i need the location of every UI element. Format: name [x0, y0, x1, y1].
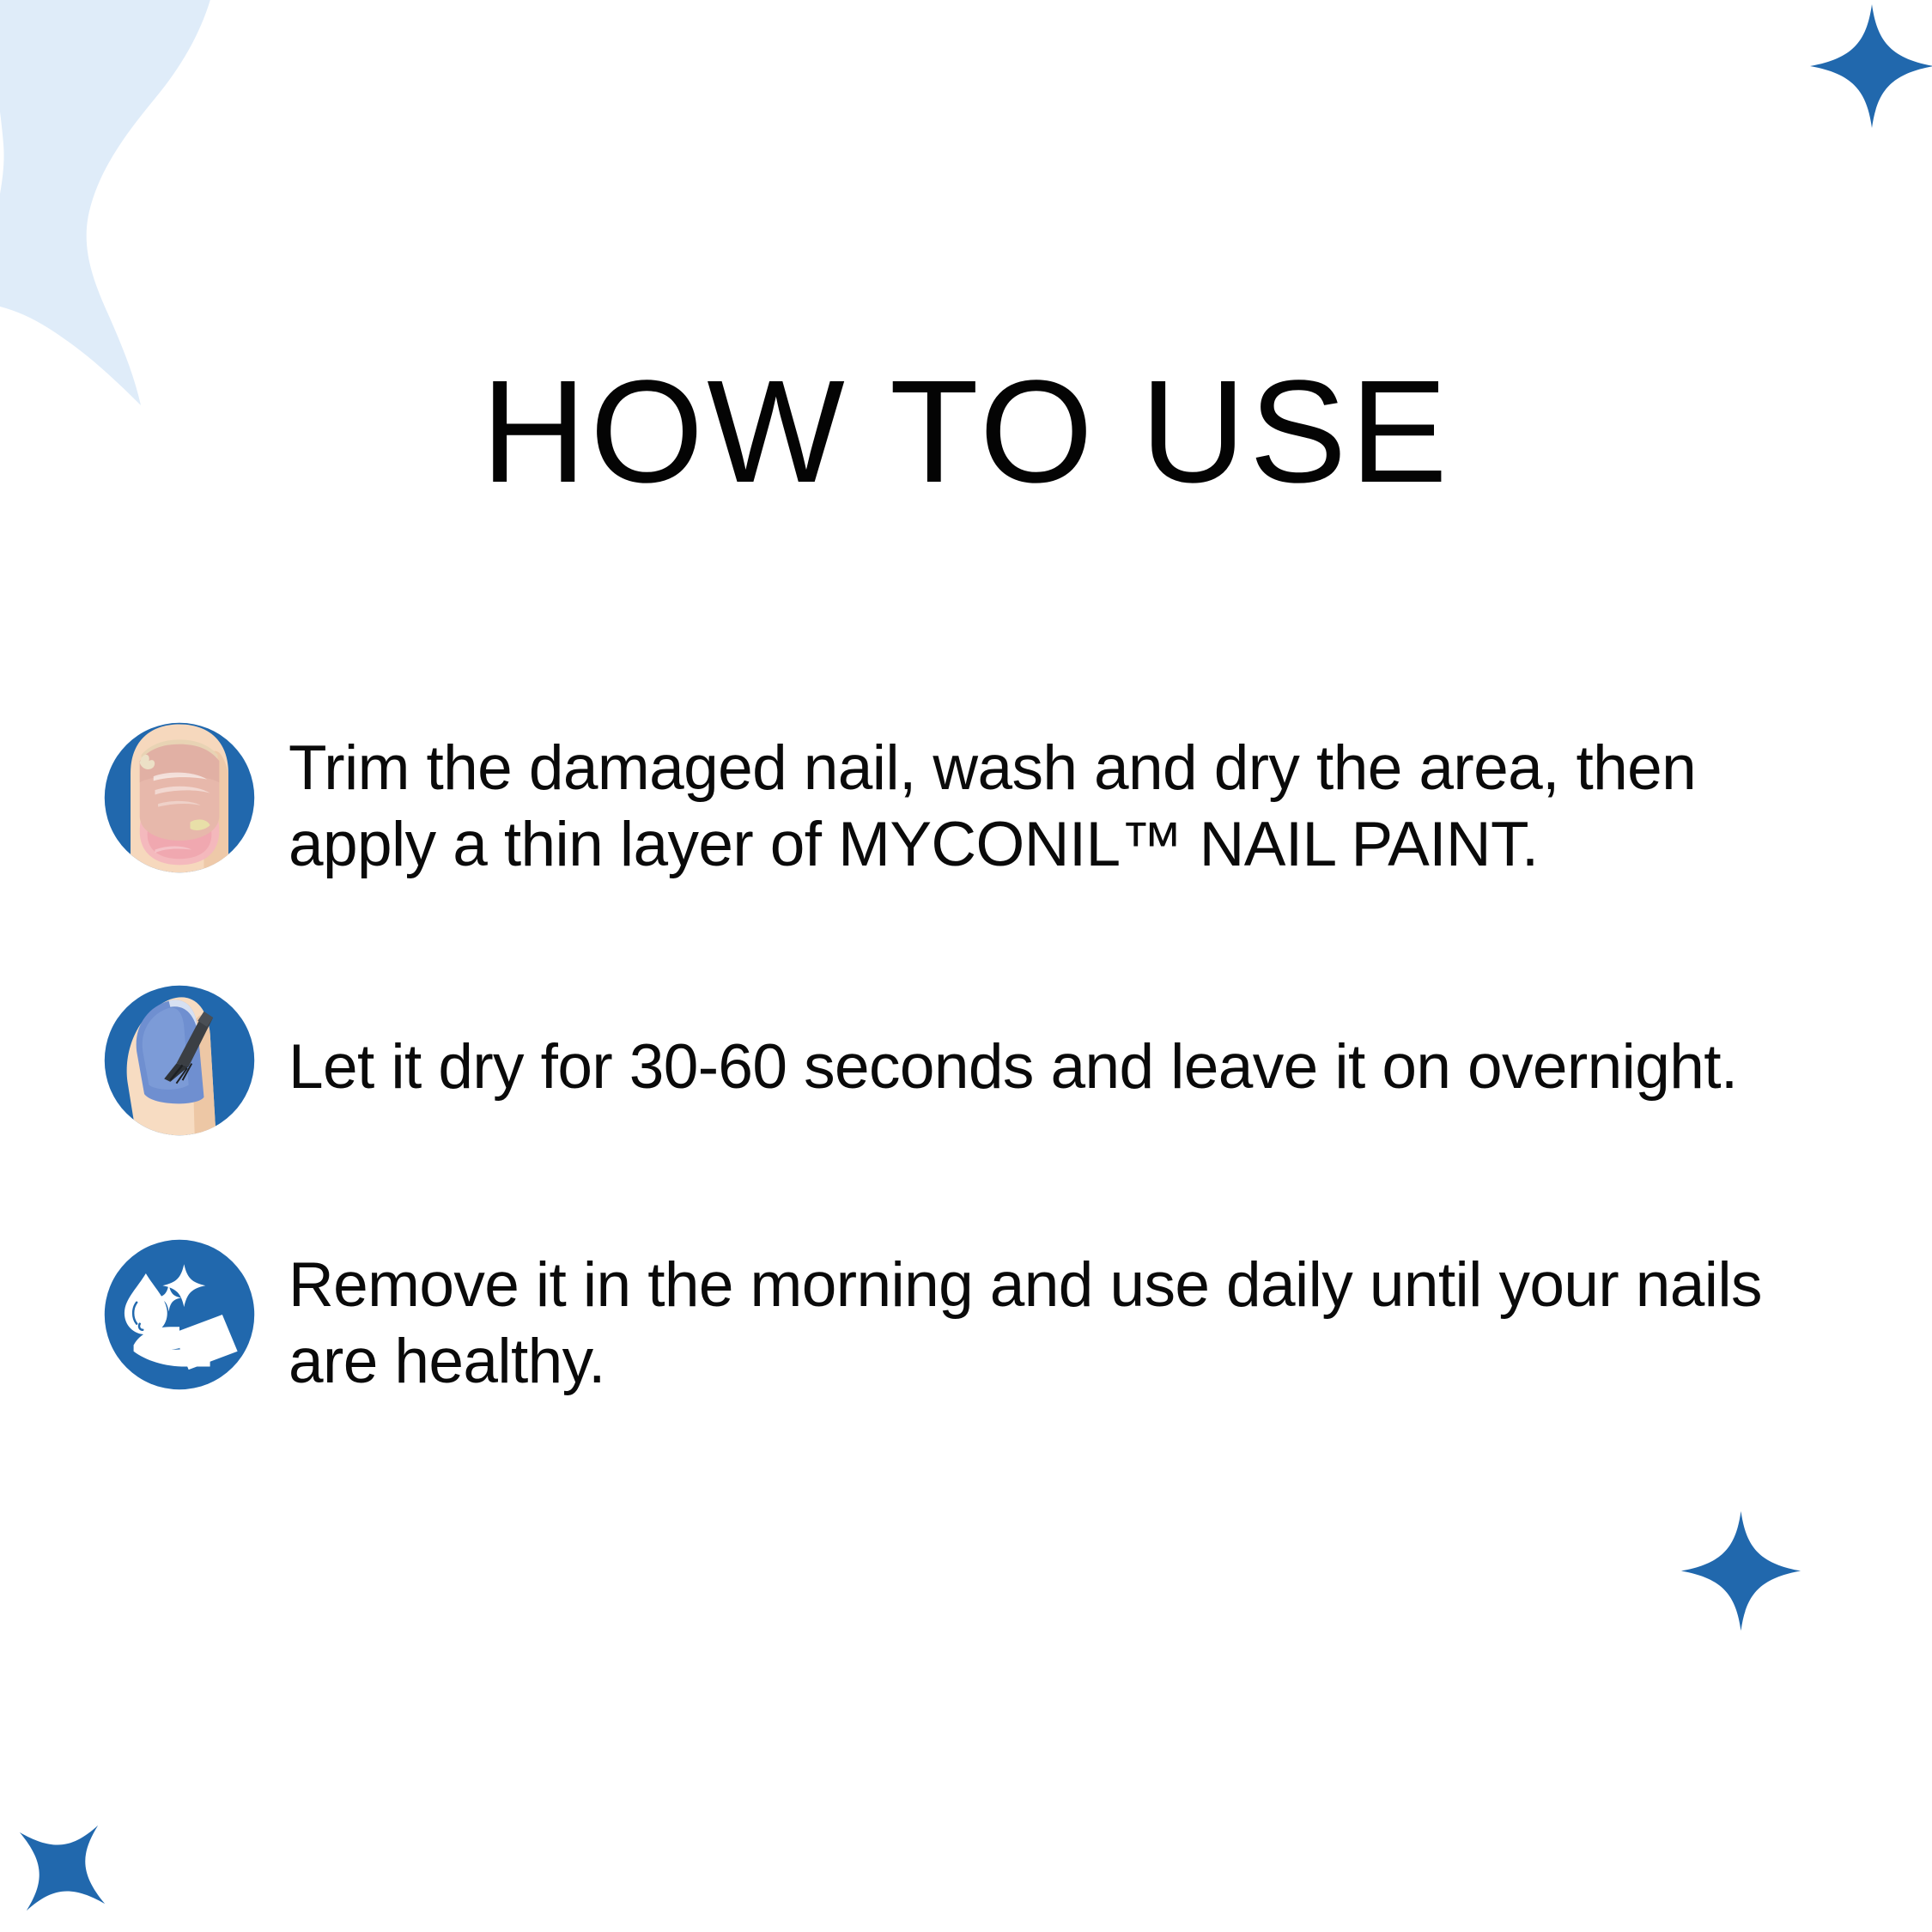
sparkle-top-right-icon — [1807, 2, 1932, 131]
step-line-1: Let it dry for 30-60 seconds and leave i… — [289, 1032, 1738, 1102]
list-item: Trim the damaged nail, wash and dry the … — [103, 721, 1829, 883]
list-item-label: Let it dry for 30-60 seconds and leave i… — [289, 984, 1829, 1105]
list-item-label: Remove it in the morning and use daily u… — [289, 1238, 1829, 1400]
damaged-nail-icon — [103, 721, 256, 874]
steps-list: Trim the damaged nail, wash and dry the … — [103, 721, 1829, 1400]
page-title: HOW TO USE — [0, 359, 1932, 505]
list-item-label: Trim the damaged nail, wash and dry the … — [289, 721, 1829, 883]
list-item: Remove it in the morning and use daily u… — [103, 1238, 1829, 1400]
nail-polish-brush-icon — [103, 984, 256, 1137]
list-item: Let it dry for 30-60 seconds and leave i… — [103, 984, 1829, 1137]
step-line-2: apply a thin layer of MYCONIL™ NAIL PAIN… — [289, 810, 1539, 879]
sparkle-bottom-left-icon — [0, 1786, 144, 1932]
sparkle-bottom-right-icon — [1679, 1509, 1803, 1633]
step-line-1: Remove it in the morning and use daily u… — [289, 1250, 1619, 1320]
how-to-use-poster: HOW TO USE — [0, 0, 1932, 1932]
wash-hands-sparkle-icon — [103, 1238, 256, 1391]
step-line-1: Trim the damaged nail, wash and dry the … — [289, 733, 1696, 803]
